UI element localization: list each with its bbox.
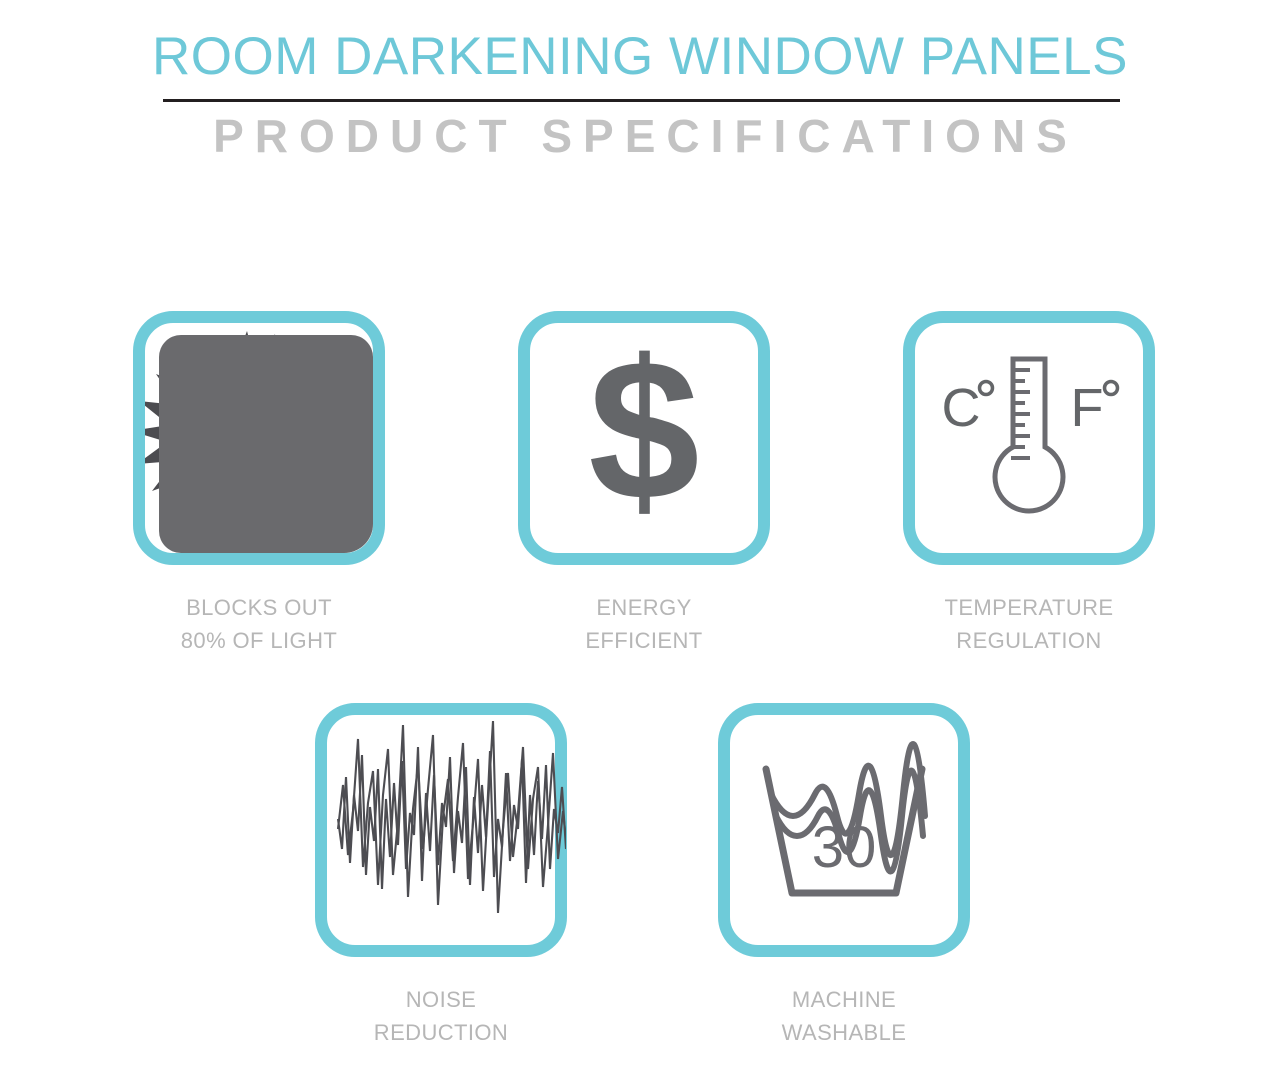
page-title: ROOM DARKENING WINDOW PANELS bbox=[0, 26, 1280, 88]
feature-caption: NOISE REDUCTION bbox=[315, 983, 567, 1049]
thermometer-glyph: C F bbox=[915, 323, 1143, 553]
wash-temperature-label: 30 bbox=[812, 815, 877, 880]
feature-caption: TEMPERATURE REGULATION bbox=[903, 591, 1155, 657]
celsius-label: C bbox=[942, 378, 981, 438]
waveform-graph bbox=[316, 699, 566, 959]
feature-caption: ENERGY EFFICIENT bbox=[518, 591, 770, 657]
feature-noise-reduction[interactable]: NOISE REDUCTION bbox=[315, 703, 567, 1049]
dollar-sign-icon: $ bbox=[530, 323, 758, 553]
sun-blocked-icon bbox=[145, 323, 373, 553]
fahrenheit-degree-icon bbox=[1105, 382, 1118, 395]
feature-blocks-out-light[interactable]: BLOCKS OUT 80% OF LIGHT bbox=[133, 311, 385, 657]
fahrenheit-label: F bbox=[1071, 378, 1104, 438]
feature-caption: MACHINE WASHABLE bbox=[718, 983, 970, 1049]
feature-card: C F bbox=[903, 311, 1155, 565]
caption-line-2: REGULATION bbox=[903, 624, 1155, 657]
feature-energy-efficient[interactable]: $ ENERGY EFFICIENT bbox=[518, 311, 770, 657]
caption-line-2: EFFICIENT bbox=[518, 624, 770, 657]
feature-card: 30 bbox=[718, 703, 970, 957]
page-subtitle: PRODUCT SPECIFICATIONS bbox=[0, 106, 1280, 166]
thermometer-icon: C F bbox=[915, 323, 1143, 553]
darkening-overlay bbox=[159, 335, 373, 553]
caption-line-1: NOISE bbox=[315, 983, 567, 1016]
caption-line-2: 80% OF LIGHT bbox=[133, 624, 385, 657]
caption-line-2: REDUCTION bbox=[315, 1016, 567, 1049]
wash-basin-glyph: 30 bbox=[730, 715, 958, 945]
dollar-glyph: $ bbox=[530, 323, 758, 553]
feature-caption: BLOCKS OUT 80% OF LIGHT bbox=[133, 591, 385, 657]
caption-line-1: MACHINE bbox=[718, 983, 970, 1016]
feature-temperature-regulation[interactable]: C F TEMPERATURE REGULATION bbox=[903, 311, 1155, 657]
caption-line-1: TEMPERATURE bbox=[903, 591, 1155, 624]
feature-card bbox=[315, 703, 567, 957]
caption-line-2: WASHABLE bbox=[718, 1016, 970, 1049]
title-divider bbox=[163, 99, 1120, 102]
svg-text:$: $ bbox=[588, 323, 699, 542]
feature-card bbox=[133, 311, 385, 565]
sound-waveform-icon bbox=[327, 715, 555, 945]
feature-card: $ bbox=[518, 311, 770, 565]
feature-machine-washable[interactable]: 30 MACHINE WASHABLE bbox=[718, 703, 970, 1049]
caption-line-1: ENERGY bbox=[518, 591, 770, 624]
caption-line-1: BLOCKS OUT bbox=[133, 591, 385, 624]
celsius-degree-icon bbox=[980, 382, 993, 395]
wash-basin-icon: 30 bbox=[730, 715, 958, 945]
